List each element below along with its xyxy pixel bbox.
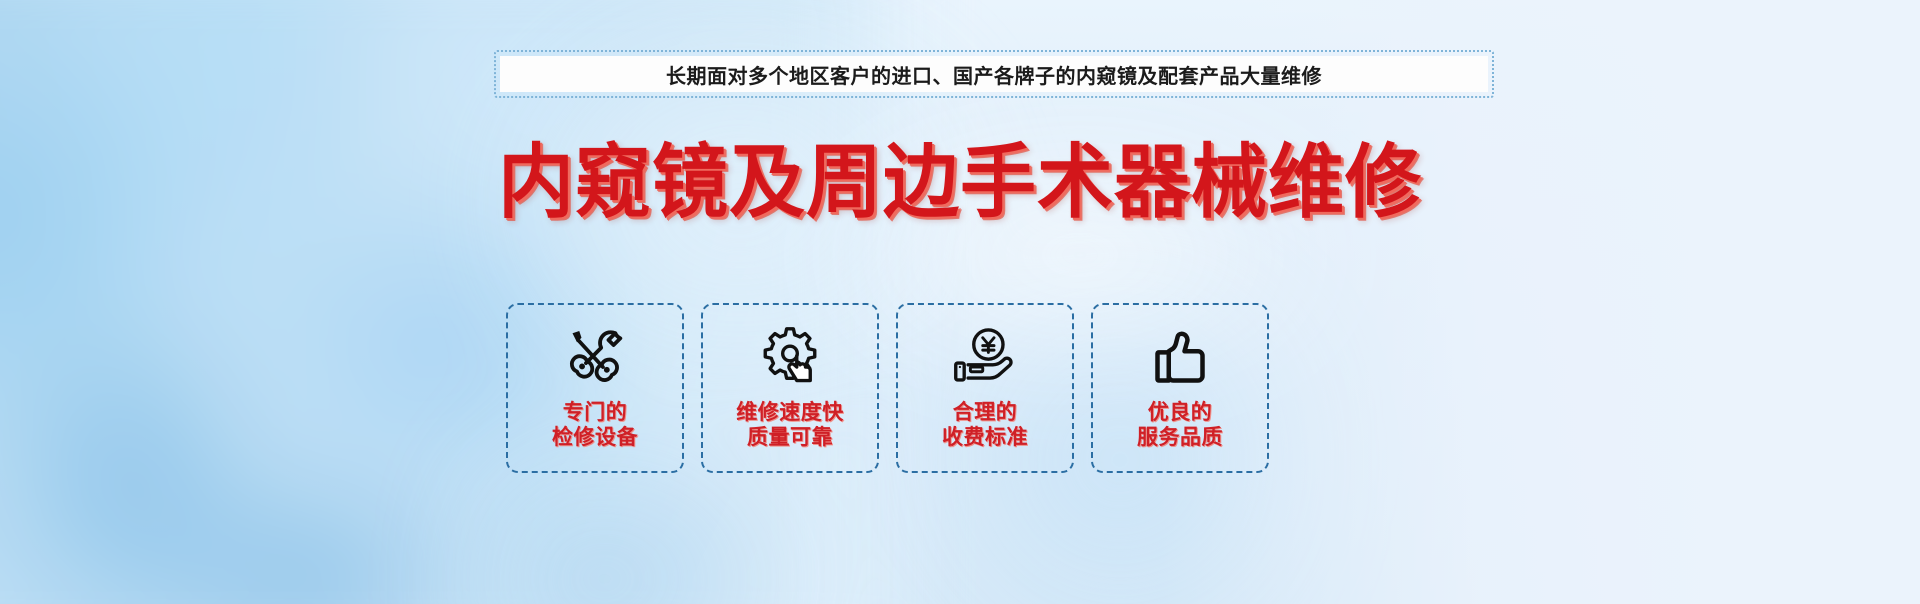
feature-label-line2: 检修设备 <box>552 426 638 451</box>
feature-label-line2: 质量可靠 <box>736 426 844 451</box>
feature-label-line2: 收费标准 <box>942 426 1028 451</box>
feature-card-label: 专门的 检修设备 <box>552 401 638 451</box>
banner-content: 长期面对多个地区客户的进口、国产各牌子的内窥镜及配套产品大量维修 内窥镜及周边手… <box>0 0 1920 604</box>
feature-label-line1: 优良的 <box>1148 401 1213 424</box>
hand-yen-coin-icon <box>949 321 1021 395</box>
feature-card-list: 专门的 检修设备 维修速度快 质量可靠 <box>506 303 1269 473</box>
feature-card-label: 合理的 收费标准 <box>942 401 1028 451</box>
feature-card-price[interactable]: 合理的 收费标准 <box>896 303 1074 473</box>
feature-card-label: 维修速度快 质量可靠 <box>736 401 844 451</box>
feature-label-line1: 合理的 <box>953 401 1018 424</box>
screwdriver-wrench-icon <box>559 321 631 395</box>
tagline-text: 长期面对多个地区客户的进口、国产各牌子的内窥镜及配套产品大量维修 <box>666 60 1322 89</box>
tagline-box: 长期面对多个地区客户的进口、国产各牌子的内窥镜及配套产品大量维修 <box>494 50 1494 98</box>
feature-label-line1: 专门的 <box>563 401 628 424</box>
feature-card-quality[interactable]: 优良的 服务品质 <box>1091 303 1269 473</box>
tagline-inner-panel: 长期面对多个地区客户的进口、国产各牌子的内窥镜及配套产品大量维修 <box>500 56 1488 92</box>
thumbs-up-icon <box>1144 321 1216 395</box>
feature-label-line2: 服务品质 <box>1137 426 1223 451</box>
page-title: 内窥镜及周边手术器械维修 <box>0 117 1920 234</box>
feature-card-speed[interactable]: 维修速度快 质量可靠 <box>701 303 879 473</box>
feature-label-line1: 维修速度快 <box>736 401 844 424</box>
gear-cursor-icon <box>754 321 826 395</box>
feature-card-equipment[interactable]: 专门的 检修设备 <box>506 303 684 473</box>
feature-card-label: 优良的 服务品质 <box>1137 401 1223 451</box>
